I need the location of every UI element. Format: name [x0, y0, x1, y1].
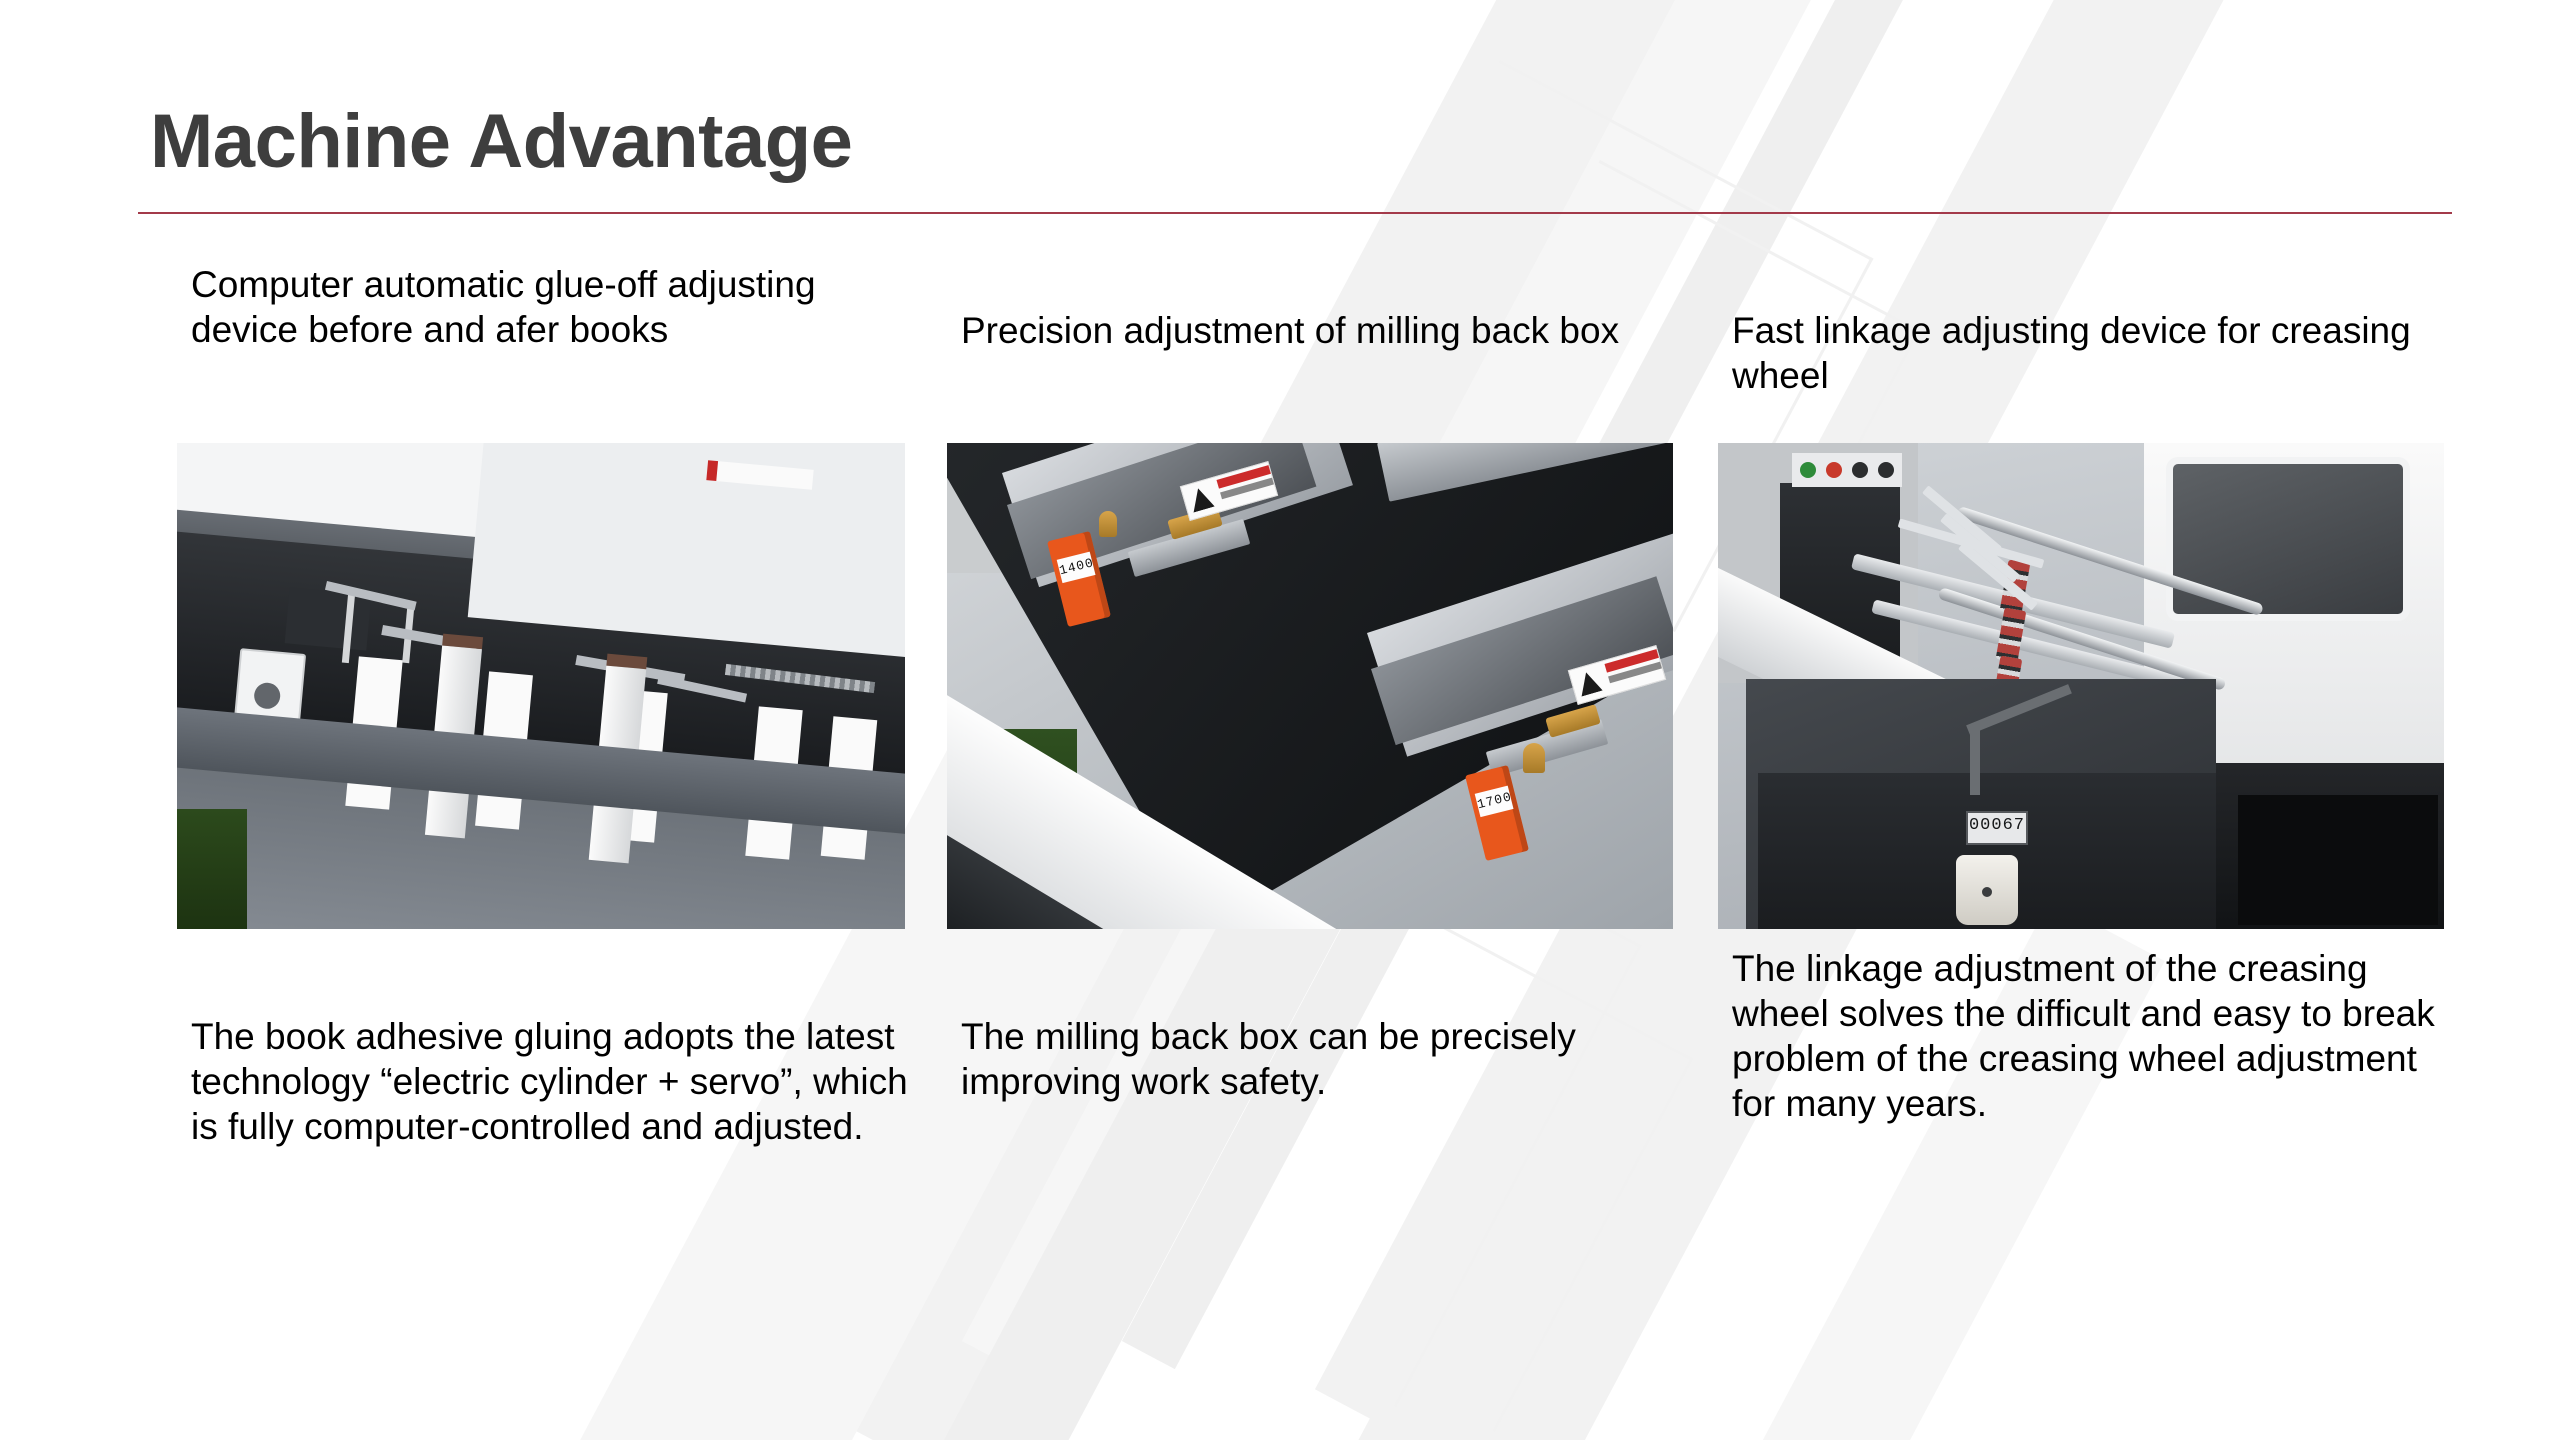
photo1-grass-floor: [177, 809, 247, 929]
photo3-adjustment-knob: [1956, 855, 2018, 925]
photo3-mechanical-counter: 00067: [1966, 811, 2028, 845]
column-body-text: The milling back box can be precisely im…: [961, 1014, 1677, 1104]
column-heading: Fast linkage adjusting device for creasi…: [1732, 308, 2448, 398]
column-body-text: The linkage adjustment of the creasing w…: [1732, 946, 2448, 1127]
photo3-black-button: [1878, 462, 1894, 478]
photo2-brass-knob: [1523, 743, 1545, 773]
title-divider-rule: [138, 212, 2452, 214]
photo3-counter-readout: 00067: [1968, 813, 2026, 839]
watermark-chevron: [1121, 860, 1693, 1432]
warning-triangle-icon: [1188, 485, 1215, 512]
warning-triangle-icon: [1576, 669, 1603, 696]
column-heading: Computer automatic glue-off adjusting de…: [191, 262, 911, 352]
column-heading: Precision adjustment of milling back box: [961, 308, 1673, 353]
photo-creasing-wheel-linkage: 00067: [1718, 443, 2444, 929]
photo3-black-button: [1852, 462, 1868, 478]
photo-milling-back-box: 1400 1700: [947, 443, 1673, 929]
photo3-green-button: [1800, 462, 1816, 478]
photo3-button-panel: [1792, 453, 1902, 487]
photo2-counter-readout: 1700: [1475, 786, 1514, 818]
column-body-text: The book adhesive gluing adopts the late…: [191, 1014, 917, 1149]
photo3-right-cabinet-door: [2238, 795, 2438, 925]
page-title: Machine Advantage: [150, 98, 852, 185]
photo3-red-button: [1826, 462, 1842, 478]
photo2-counter-readout: 1400: [1057, 552, 1096, 584]
photo-glue-off-adjusting-device: [177, 443, 905, 929]
slide-root: Machine Advantage Computer automatic glu…: [0, 0, 2560, 1440]
photo3-crank-shaft: [1970, 729, 1980, 795]
photo2-brass-knob: [1099, 511, 1117, 537]
